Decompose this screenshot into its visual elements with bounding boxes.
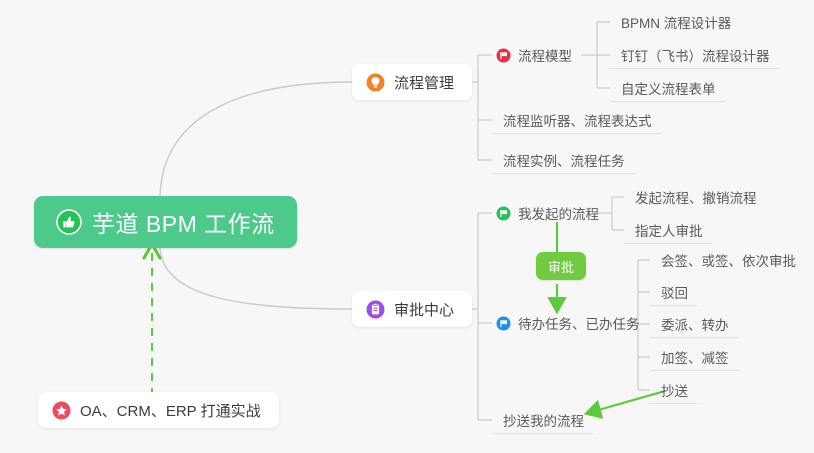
- node-delegate-transfer[interactable]: 委派、转办: [650, 310, 739, 338]
- branch-node-label: 流程管理: [394, 72, 454, 93]
- node-add-remove-sign[interactable]: 加签、减签: [650, 343, 739, 371]
- branch-node-approval-center[interactable]: 审批中心: [352, 291, 472, 327]
- node-label: 委派、转办: [661, 314, 729, 334]
- flag-red-icon: [496, 48, 511, 63]
- node-label: 抄送我的流程: [503, 410, 584, 430]
- node-label: 抄送: [661, 380, 688, 400]
- node-custom-process-form[interactable]: 自定义流程表单: [610, 74, 726, 102]
- root-node-label: 芋道 BPM 工作流: [92, 205, 275, 239]
- node-assignee-approval[interactable]: 指定人审批: [624, 216, 713, 244]
- node-process-model[interactable]: 流程模型: [492, 41, 582, 69]
- branch-node-label: 审批中心: [394, 299, 454, 320]
- callout-node-label: OA、CRM、ERP 打通实战: [80, 400, 261, 421]
- node-reject[interactable]: 驳回: [650, 278, 698, 306]
- flag-blue-icon: [496, 316, 511, 331]
- mindmap-canvas: 芋道 BPM 工作流 OA、CRM、ERP 打通实战 流程管理: [0, 0, 814, 453]
- flag-green-icon: [496, 206, 511, 221]
- node-todo-done[interactable]: 待办任务、已办任务: [492, 309, 650, 337]
- node-start-cancel[interactable]: 发起流程、撤销流程: [624, 183, 767, 211]
- node-instance-task[interactable]: 流程实例、流程任务: [492, 146, 635, 174]
- node-listener-expression[interactable]: 流程监听器、流程表达式: [492, 106, 662, 134]
- annotation-pill-approval: 审批: [536, 252, 586, 280]
- branch-node-process-management[interactable]: 流程管理: [352, 64, 472, 100]
- node-cc-to-me[interactable]: 抄送我的流程: [492, 406, 594, 434]
- node-countersign[interactable]: 会签、或签、依次审批: [650, 246, 806, 274]
- edge-root-to-process-management: [160, 82, 352, 196]
- star-icon: [52, 401, 71, 420]
- node-label: 自定义流程表单: [621, 78, 716, 98]
- annotation-label: 审批: [548, 257, 574, 276]
- node-label: 指定人审批: [635, 220, 703, 240]
- node-cc[interactable]: 抄送: [650, 376, 698, 404]
- node-label: 驳回: [661, 282, 688, 302]
- node-label: 我发起的流程: [518, 203, 599, 223]
- node-label: BPMN 流程设计器: [621, 12, 731, 32]
- lightbulb-icon: [366, 73, 385, 92]
- node-bpmn-designer[interactable]: BPMN 流程设计器: [610, 8, 741, 36]
- node-label: 流程模型: [518, 45, 572, 65]
- thumbs-up-icon: [56, 209, 82, 235]
- callout-node-oa-crm-erp[interactable]: OA、CRM、ERP 打通实战: [38, 392, 279, 428]
- node-label: 发起流程、撤销流程: [635, 187, 757, 207]
- clipboard-icon: [366, 300, 385, 319]
- node-dingtalk-feishu-designer[interactable]: 钉钉（飞书）流程设计器: [610, 41, 780, 69]
- root-node[interactable]: 芋道 BPM 工作流: [34, 196, 297, 248]
- node-label: 流程监听器、流程表达式: [503, 110, 652, 130]
- node-label: 加签、减签: [661, 347, 729, 367]
- node-my-initiated[interactable]: 我发起的流程: [492, 199, 609, 227]
- node-label: 流程实例、流程任务: [503, 150, 625, 170]
- node-label: 待办任务、已办任务: [518, 313, 640, 333]
- edge-root-to-approval-center: [160, 248, 352, 309]
- node-label: 钉钉（飞书）流程设计器: [621, 45, 770, 65]
- node-label: 会签、或签、依次审批: [661, 250, 796, 270]
